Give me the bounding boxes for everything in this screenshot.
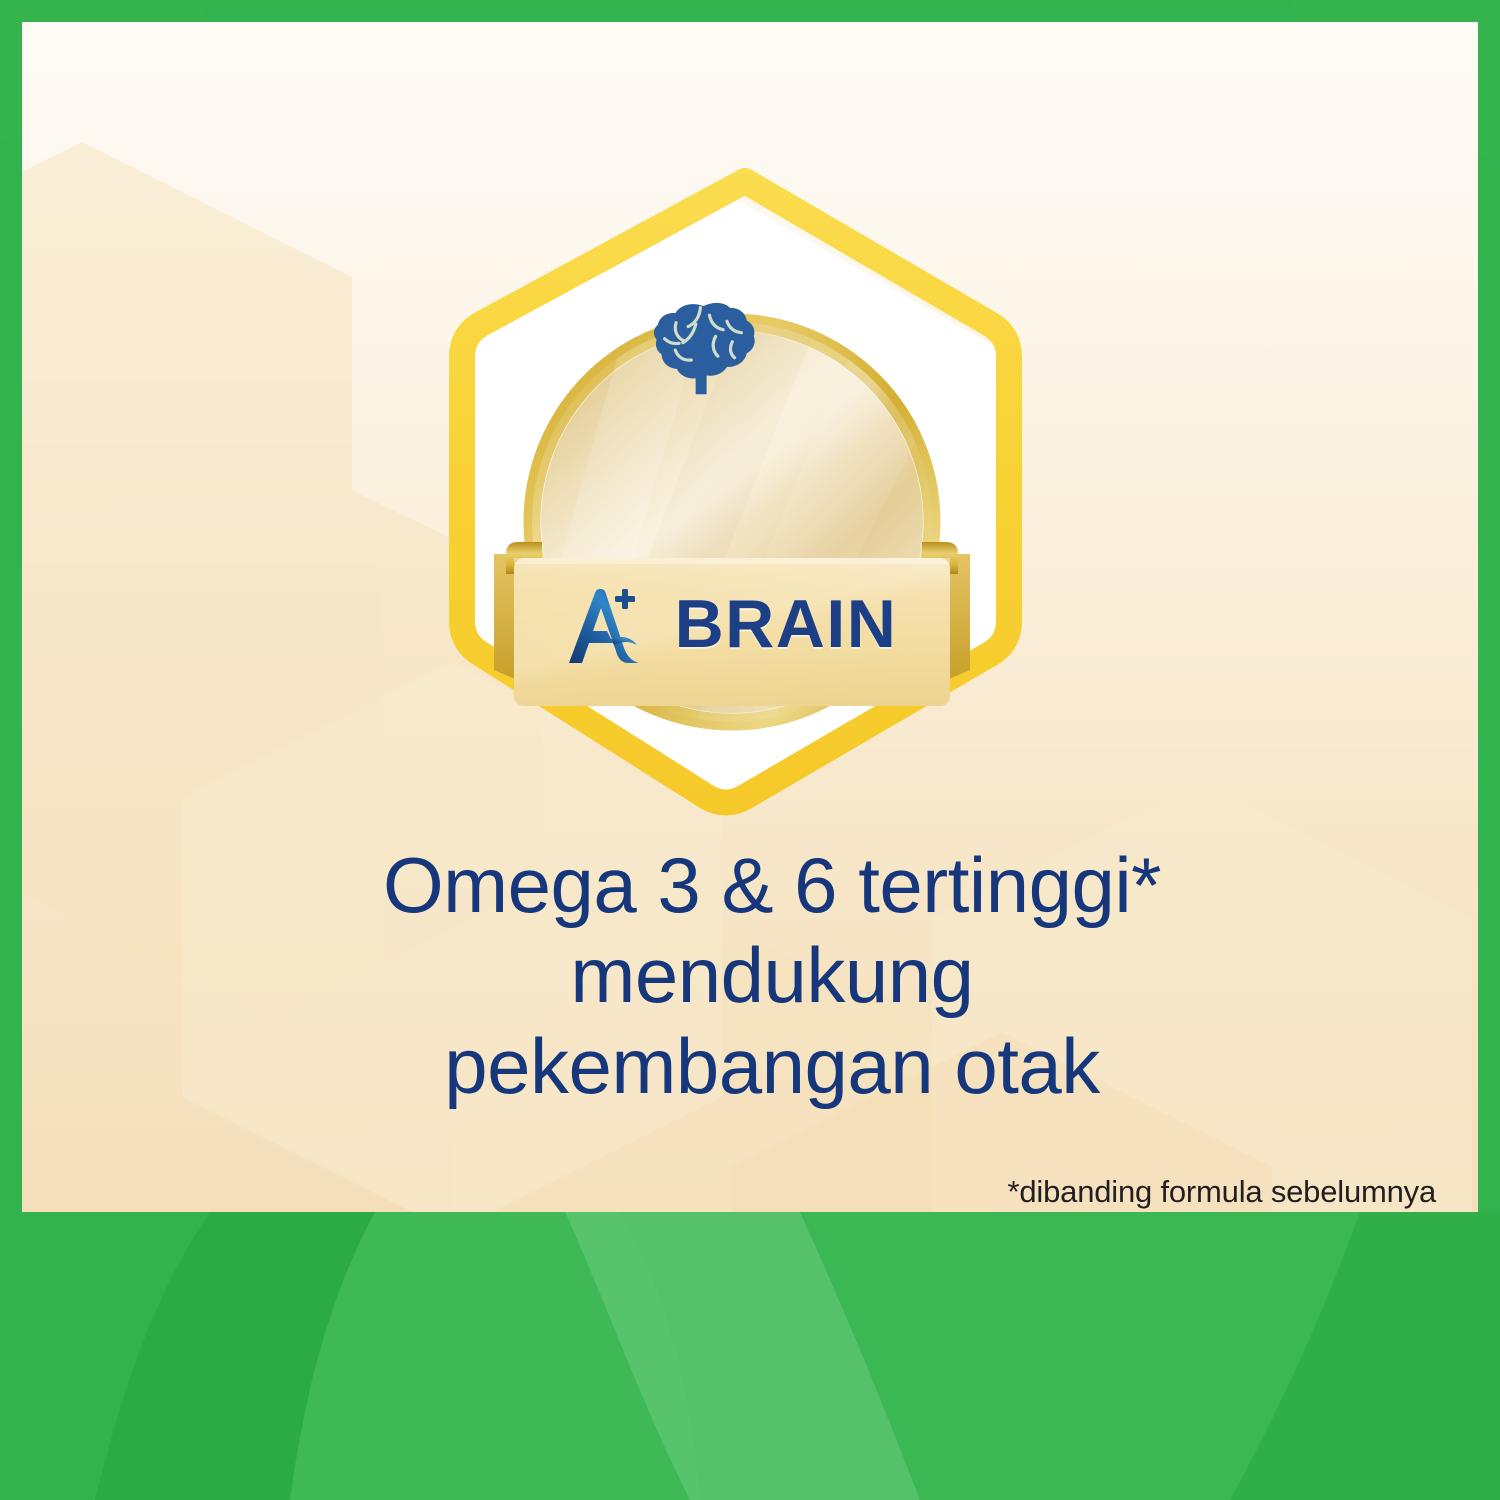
headline-line-2: mendukung <box>142 930 1402 1020</box>
footnote-disclaimer: *dibanding formula sebelumnya <box>1008 1174 1436 1210</box>
ribbon-label-group: BRAIN <box>402 550 1062 702</box>
a-plus-brain-badge: BRAIN <box>402 122 1062 822</box>
a-plus-logo-icon <box>567 583 649 669</box>
brain-wordmark: BRAIN <box>675 590 898 662</box>
promo-poster: BRAIN Omega 3 & 6 tertinggi* mendukung p… <box>0 0 1500 1500</box>
headline-line-3: pekembangan otak <box>142 1021 1402 1111</box>
cream-content-panel: BRAIN Omega 3 & 6 tertinggi* mendukung p… <box>22 22 1478 1212</box>
page-title: Omega 3 & 6 tertinggi* mendukung pekemba… <box>142 840 1402 1111</box>
headline-line-1: Omega 3 & 6 tertinggi* <box>142 840 1402 930</box>
